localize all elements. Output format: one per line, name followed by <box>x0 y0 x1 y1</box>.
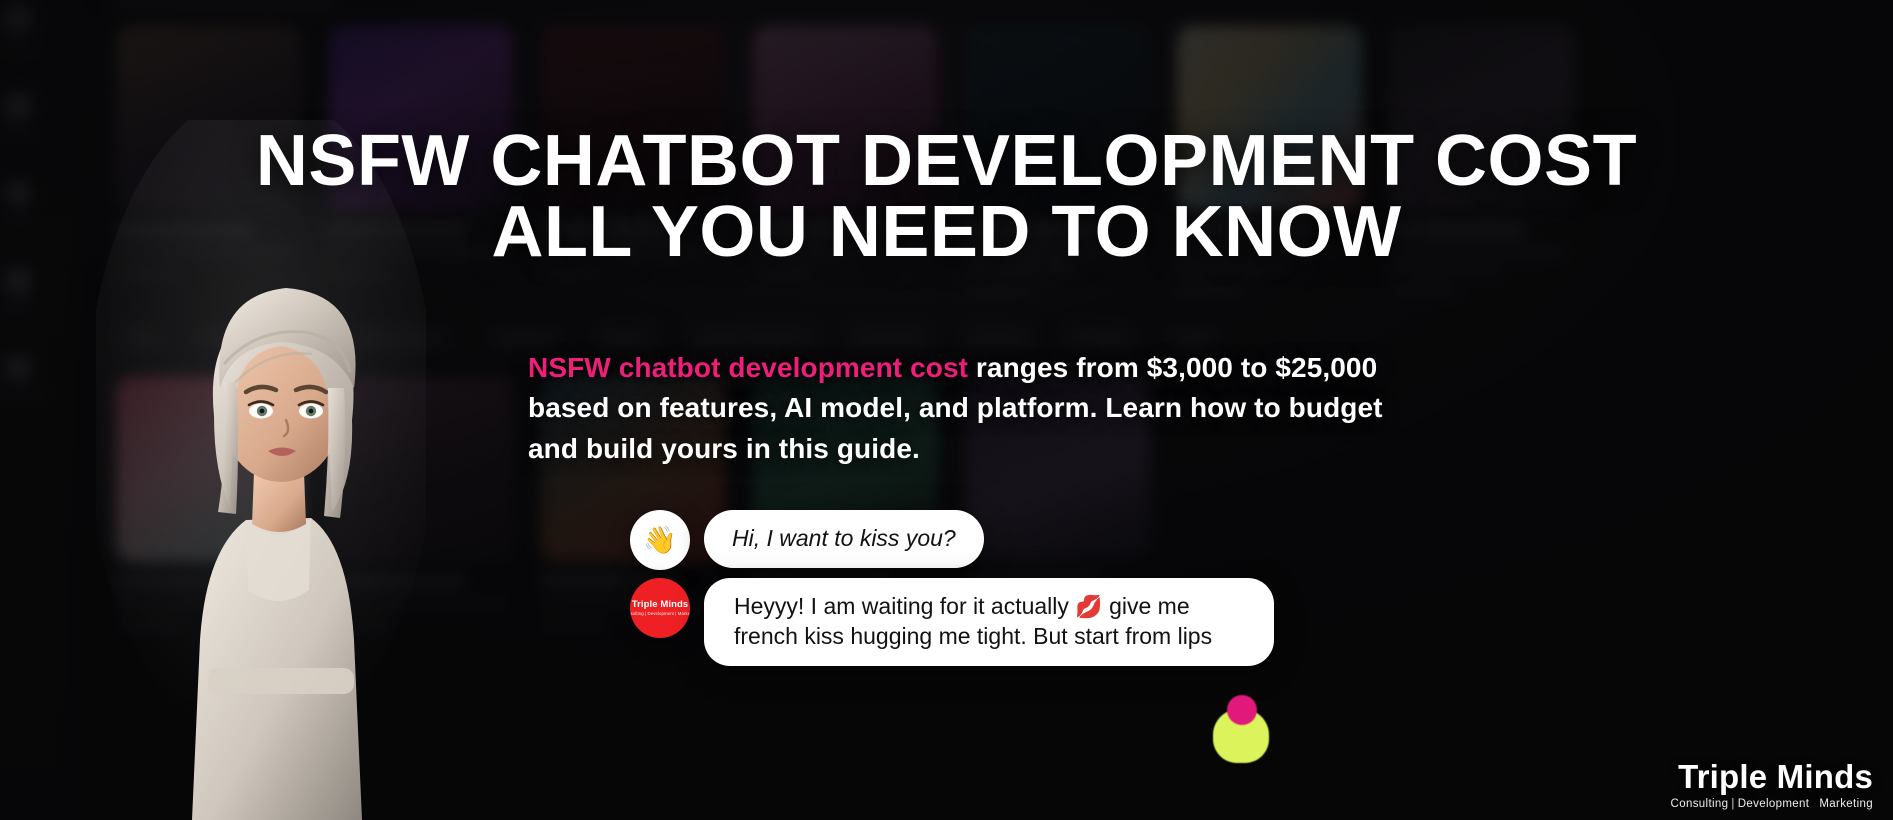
page-subtitle-accent: NSFW chatbot development cost <box>528 352 968 383</box>
page-title-line-1: NSFW Chatbot Development Cost <box>256 121 1637 201</box>
page-title: NSFW Chatbot Development Cost All You Ne… <box>0 126 1893 267</box>
waving-hand-icon: 👋 <box>643 524 677 556</box>
chat-message-bot: Triple Minds Consulting | Development | … <box>630 578 1290 666</box>
chat-preview: 👋 Hi, I want to kiss you? Triple Minds C… <box>630 510 1290 674</box>
brand-service-development: Development <box>1738 798 1810 810</box>
chat-bubble-user: Hi, I want to kiss you? <box>704 510 984 568</box>
chat-bot-text-before: Heyyy! I am waiting for it actually <box>734 593 1075 619</box>
triple-minds-logo-avatar: Triple Minds Consulting | Development | … <box>630 578 690 638</box>
chat-message-user: 👋 Hi, I want to kiss you? <box>630 510 1290 570</box>
hero-banner: Home Chats Create Gallery Subscription <box>0 0 1893 820</box>
kiss-mark-icon: 💋 <box>1075 594 1102 619</box>
brand-service-consulting: Consulting <box>1671 798 1729 810</box>
decor-dot <box>1227 695 1257 725</box>
avatar-brand-name: Triple Minds <box>632 600 689 610</box>
brand-tagline: Consulting|DevelopmentMarketing <box>1671 798 1873 810</box>
waving-hand-emoji-avatar: 👋 <box>630 510 690 570</box>
brand-name: Triple Minds <box>1671 760 1873 795</box>
avatar-brand-tagline: Consulting | Development | Marketing <box>630 612 690 616</box>
brand-separator: | <box>1728 798 1737 810</box>
brand-service-marketing: Marketing <box>1819 798 1873 810</box>
brand-watermark: Triple Minds Consulting|DevelopmentMarke… <box>1671 760 1873 810</box>
chat-bubble-bot: Heyyy! I am waiting for it actually 💋 gi… <box>704 578 1274 666</box>
page-subtitle: NSFW chatbot development cost ranges fro… <box>528 348 1388 469</box>
decor-pin-shape <box>1213 695 1269 763</box>
page-title-line-2: All You Need To Know <box>140 197 1753 268</box>
